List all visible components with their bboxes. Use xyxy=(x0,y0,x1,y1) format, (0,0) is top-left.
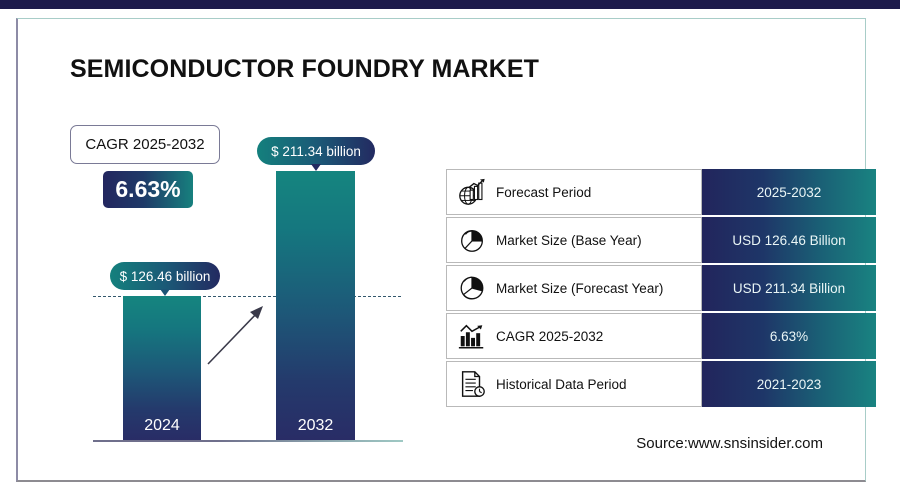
top-accent-bar xyxy=(0,0,900,9)
table-row-label: CAGR 2025-2032 xyxy=(496,329,603,344)
table-row-label: Historical Data Period xyxy=(496,377,627,392)
table-row: Market Size (Base Year) USD 126.46 Billi… xyxy=(446,217,876,263)
chart-baseline-axis xyxy=(93,440,403,442)
table-row-value: 2025-2032 xyxy=(757,185,822,200)
bar-2024: 2024 xyxy=(123,296,201,441)
source-attribution: Source:www.snsinsider.com xyxy=(636,435,823,452)
table-row-value-cell: USD 126.46 Billion xyxy=(702,217,876,263)
table-row: Historical Data Period 2021-2023 xyxy=(446,361,876,407)
bar-chart-trend-icon xyxy=(457,321,487,351)
table-row-value-cell: USD 211.34 Billion xyxy=(702,265,876,311)
table-row-label-cell: CAGR 2025-2032 xyxy=(446,313,702,359)
page-title: SEMICONDUCTOR FOUNDRY MARKET xyxy=(70,55,539,84)
bar-2032-fill xyxy=(276,171,355,441)
growth-arrow-icon xyxy=(203,299,273,369)
pie-chart-icon xyxy=(457,225,487,255)
infographic-card: SEMICONDUCTOR FOUNDRY MARKET CAGR 2025-2… xyxy=(16,18,866,482)
document-clock-icon xyxy=(457,369,487,399)
table-row: Forecast Period 2025-2032 xyxy=(446,169,876,215)
table-row-value-cell: 6.63% xyxy=(702,313,876,359)
data-label-2032-text: $ 211.34 billion xyxy=(271,144,361,159)
bar-2024-year: 2024 xyxy=(123,417,201,435)
table-row-value-cell: 2021-2023 xyxy=(702,361,876,407)
data-label-2032: $ 211.34 billion xyxy=(257,137,375,165)
data-label-2024: $ 126.46 billion xyxy=(110,262,220,290)
table-row-value: 6.63% xyxy=(770,329,808,344)
table-row-label: Market Size (Base Year) xyxy=(496,233,642,248)
table-row-value: USD 126.46 Billion xyxy=(732,233,845,248)
data-label-2024-text: $ 126.46 billion xyxy=(120,269,211,284)
table-row-label-cell: Forecast Period xyxy=(446,169,702,215)
pie-chart-segments-icon xyxy=(457,273,487,303)
bar-2032: 2032 xyxy=(276,171,355,441)
table-row-label: Forecast Period xyxy=(496,185,591,200)
details-table: Forecast Period 2025-2032 Market Size (B… xyxy=(446,169,876,409)
bar-chart: $ 126.46 billion $ 211.34 billion 2024 2… xyxy=(78,119,408,449)
bar-2032-year: 2032 xyxy=(276,417,355,435)
table-row-value: USD 211.34 Billion xyxy=(733,281,845,296)
globe-growth-chart-icon xyxy=(457,177,487,207)
table-row-value-cell: 2025-2032 xyxy=(702,169,876,215)
table-row-label-cell: Historical Data Period xyxy=(446,361,702,407)
table-row-value: 2021-2023 xyxy=(757,377,822,392)
table-row: CAGR 2025-2032 6.63% xyxy=(446,313,876,359)
table-row-label-cell: Market Size (Forecast Year) xyxy=(446,265,702,311)
table-row-label: Market Size (Forecast Year) xyxy=(496,281,663,296)
table-row-label-cell: Market Size (Base Year) xyxy=(446,217,702,263)
table-row: Market Size (Forecast Year) USD 211.34 B… xyxy=(446,265,876,311)
